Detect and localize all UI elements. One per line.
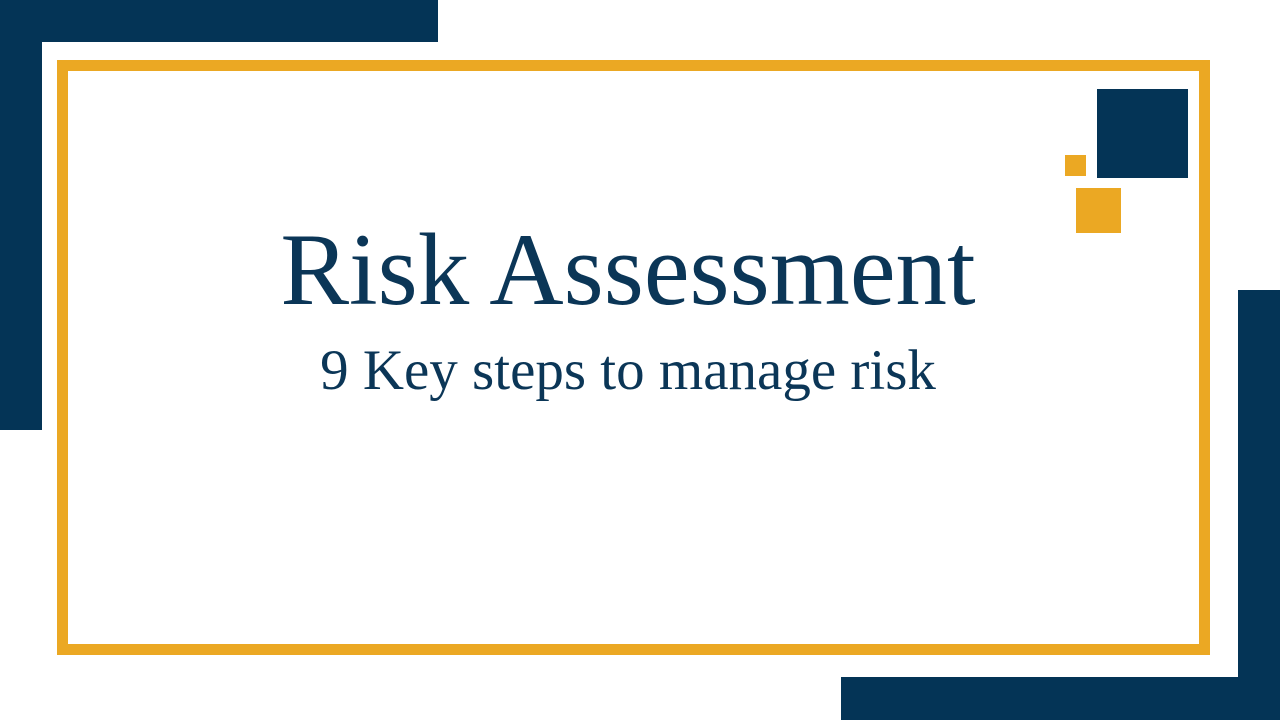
navy-top-left-bar-decoration [0,0,438,42]
navy-bottom-bar-decoration [841,677,1280,720]
slide-subtitle: 9 Key steps to manage risk [68,340,1188,403]
slide-title: Risk Assessment [68,215,1188,326]
gold-accent-square-small [1065,155,1086,176]
navy-accent-square [1097,89,1188,178]
title-text-block: Risk Assessment 9 Key steps to manage ri… [68,215,1188,403]
presentation-slide: Risk Assessment 9 Key steps to manage ri… [0,0,1280,720]
navy-left-column-decoration [0,0,42,430]
navy-right-column-decoration [1238,290,1280,720]
